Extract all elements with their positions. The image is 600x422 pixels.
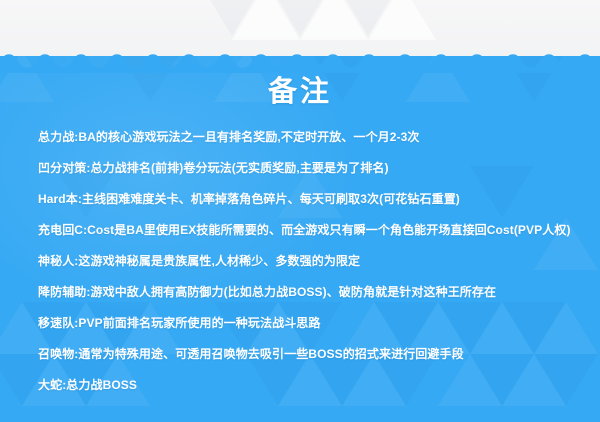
list-item: 总力战:BA的核心游戏玩法之一且有排名奖励,不定时开放、一个月2-3次 — [38, 122, 584, 153]
list-item: 移速队:PVP前面排名玩家所使用的一种玩法战斗思路 — [38, 308, 584, 339]
background-triangle — [198, 0, 266, 36]
background-triangle — [266, 0, 334, 36]
list-item: 大蛇:总力战BOSS — [38, 370, 584, 401]
list-item: 凹分对策:总力战排名(前排)卷分玩法(无实质奖励,主要是为了排名) — [38, 153, 584, 184]
list-item: 充电回C:Cost是BA里使用EX技能所需要的、而全游戏只有瞬一个角色能开场直接… — [38, 215, 584, 246]
list-item: 召唤物:通常为特殊用途、可透用召唤物去吸引一些BOSS的招式来进行回避手段 — [38, 339, 584, 370]
list-item: 神秘人:这游戏神秘属是贵族属性,人材稀少、多数强的为限定 — [38, 246, 584, 277]
page-title: 备注 — [0, 74, 600, 110]
list-item: 降防辅助:游戏中敌人拥有高防御力(比如总力战BOSS)、破防角就是针对这种王所存… — [38, 277, 584, 308]
list-item: Hard本:主线困难难度关卡、机率掉落角色碎片、每天可刷取3次(可花钻石重置) — [38, 184, 584, 215]
notes-poster: 备注 总力战:BA的核心游戏玩法之一且有排名奖励,不定时开放、一个月2-3次 凹… — [0, 0, 600, 422]
background-triangle — [368, 0, 436, 40]
wave-divider — [0, 49, 600, 73]
notes-list: 总力战:BA的核心游戏玩法之一且有排名奖励,不定时开放、一个月2-3次 凹分对策… — [38, 122, 584, 401]
